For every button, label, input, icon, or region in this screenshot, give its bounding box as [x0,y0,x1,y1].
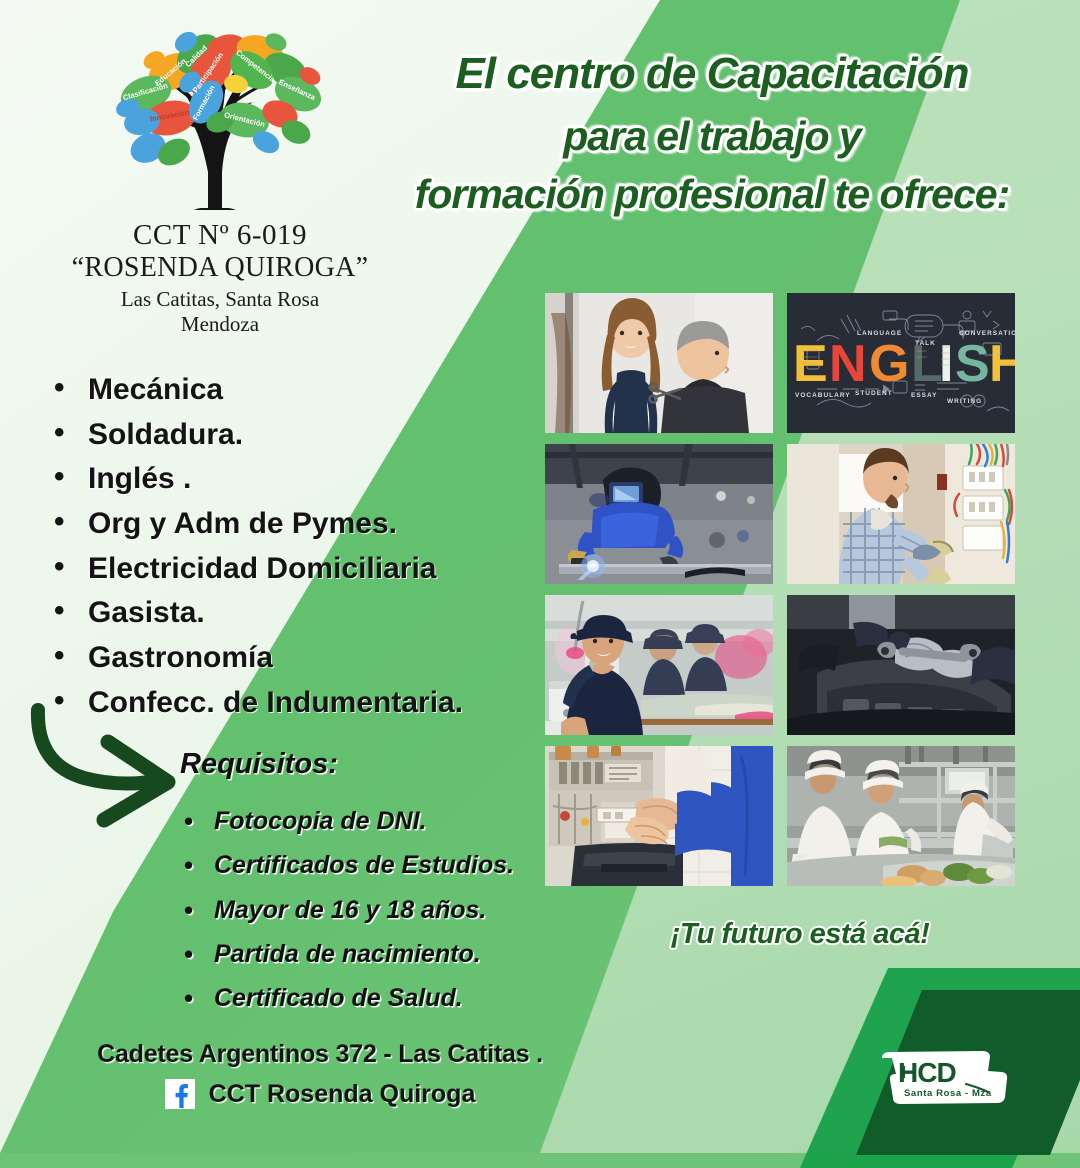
list-item: Electricidad Domiciliaria [46,547,566,592]
logo-line-locality: Las Catitas, Santa Rosa [70,286,370,312]
photo-electricity [787,444,1015,584]
logo-line-province: Mendoza [70,312,370,337]
course-photo-grid: LANGUAGE TALK CONVERSATION VOCABULARY ST… [545,293,1015,886]
headline-line-1: El centro de Capacitación [372,48,1052,100]
tagline-text: ¡Tu futuro está acá! [671,918,930,950]
photo-mechanics [787,595,1015,735]
svg-text:WRITING: WRITING [947,398,982,405]
photo-gas [545,746,773,886]
svg-text:G: G [869,335,909,393]
photo-hairdressing [545,293,773,433]
headline-line-2: para el trabajo y [372,112,1052,160]
requirements-title: Requisitos: [176,748,576,781]
poster-headline: El centro de Capacitación para el trabaj… [372,48,1052,219]
list-item: Inglés . [46,457,566,502]
photo-english: LANGUAGE TALK CONVERSATION VOCABULARY ST… [787,293,1015,433]
svg-text:VOCABULARY: VOCABULARY [795,392,851,399]
logo-line-cct-number: CCT Nº 6-019 [70,218,370,252]
list-item: Fotocopia de DNI. [176,799,576,843]
svg-text:S: S [955,335,990,393]
courses-list: Mecánica Soldadura. Inglés . Org y Adm d… [46,368,566,726]
svg-text:N: N [829,335,867,393]
logo-line-name: “ROSENDA QUIROGA” [70,252,370,283]
headline-line-3: formación profesional te ofrece: [372,170,1052,218]
hcd-logo: HCD Santa Rosa - Mza [876,1048,1016,1110]
list-item: Org y Adm de Pymes. [46,502,566,547]
tree-logo-icon: Calidad Educación Participación Competen… [90,22,350,212]
list-item: Mecánica [46,368,566,413]
svg-text:H: H [989,335,1015,393]
list-item: Certificado de Salud. [176,976,576,1020]
svg-text:E: E [793,335,828,393]
photo-gastronomy [787,746,1015,886]
svg-text:Santa Rosa - Mza: Santa Rosa - Mza [904,1088,992,1099]
facebook-page-name[interactable]: CCT Rosenda Quiroga [209,1080,476,1109]
requirements-section: Requisitos: Fotocopia de DNI. Certificad… [176,748,576,1020]
list-item: Partida de nacimiento. [176,932,576,976]
svg-text:HCD: HCD [898,1057,956,1088]
svg-text:I: I [939,335,953,393]
tagline: ¡Tu futuro está acá! [600,918,1000,951]
list-item: Certificados de Estudios. [176,843,576,887]
svg-text:L: L [911,335,943,393]
list-item: Soldadura. [46,413,566,458]
svg-text:ESSAY: ESSAY [911,392,937,399]
requirements-list: Fotocopia de DNI. Certificados de Estudi… [176,799,576,1020]
street-address: Cadetes Argentinos 372 - Las Catitas . [60,1040,580,1069]
photo-sewing [545,595,773,735]
list-item: Gastronomía [46,636,566,681]
footer-contact-block: Cadetes Argentinos 372 - Las Catitas . C… [60,1040,580,1109]
photo-welding [545,444,773,584]
facebook-f-icon[interactable] [165,1079,195,1109]
institution-logo-block: Calidad Educación Participación Competen… [70,22,370,337]
list-item: Gasista. [46,591,566,636]
facebook-row[interactable]: CCT Rosenda Quiroga [60,1079,580,1109]
list-item: Mayor de 16 y 18 años. [176,888,576,932]
